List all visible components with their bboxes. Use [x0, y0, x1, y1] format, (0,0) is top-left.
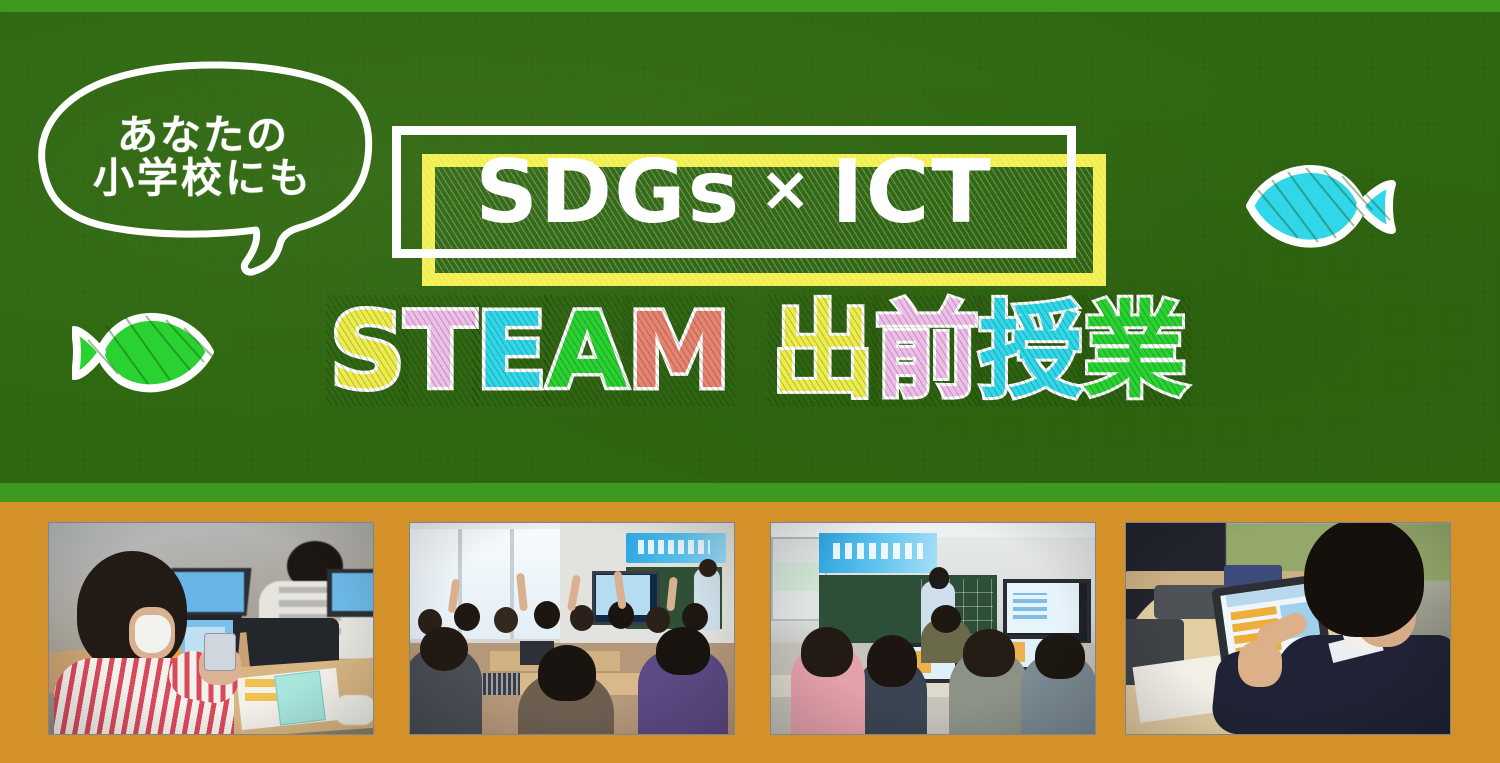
title-part-ict: ICT — [831, 141, 993, 243]
bottom-green-strip — [0, 483, 1500, 502]
main-title: SDGs × ICT — [392, 126, 1076, 258]
fish-cyan-icon — [1238, 150, 1398, 266]
photo-4 — [1125, 522, 1451, 735]
subtitle-char-a: A — [547, 299, 628, 403]
photo-3 — [770, 522, 1096, 735]
speech-bubble-line-2: 小学校にも — [78, 157, 328, 200]
fish-green-icon — [72, 300, 222, 408]
title-separator-x: × — [741, 152, 831, 225]
top-green-strip — [0, 0, 1500, 12]
steam-outreach-class-banner: あなたの 小学校にも SDGs × ICT S T E A M — [0, 0, 1500, 763]
speech-bubble: あなたの 小学校にも — [30, 56, 375, 276]
speech-bubble-line-1: あなたの — [78, 114, 328, 157]
title-text: SDGs × ICT — [392, 126, 1076, 258]
subtitle-japanese-word: 出 前 授 業 — [771, 299, 1187, 403]
subtitle-steam-word: S T E A M — [330, 299, 731, 403]
subtitle-char-gyo: 業 — [1083, 299, 1187, 403]
photo-1 — [48, 522, 374, 735]
photo-strip — [0, 502, 1500, 763]
subtitle-char-m: M — [627, 299, 731, 403]
subtitle-char-s: S — [330, 299, 405, 403]
photo-2 — [409, 522, 735, 735]
subtitle-char-mae: 前 — [875, 299, 979, 403]
subtitle-char-ju: 授 — [979, 299, 1083, 403]
title-part-sdgs: SDGs — [475, 141, 741, 243]
subtitle-char-de: 出 — [771, 299, 875, 403]
speech-bubble-text: あなたの 小学校にも — [78, 114, 328, 201]
subtitle-char-t: T — [405, 299, 476, 403]
chalkboard-background: あなたの 小学校にも SDGs × ICT S T E A M — [0, 12, 1500, 483]
subtitle-char-e: E — [476, 299, 547, 403]
subtitle-line: S T E A M 出 前 授 業 — [330, 288, 1250, 413]
